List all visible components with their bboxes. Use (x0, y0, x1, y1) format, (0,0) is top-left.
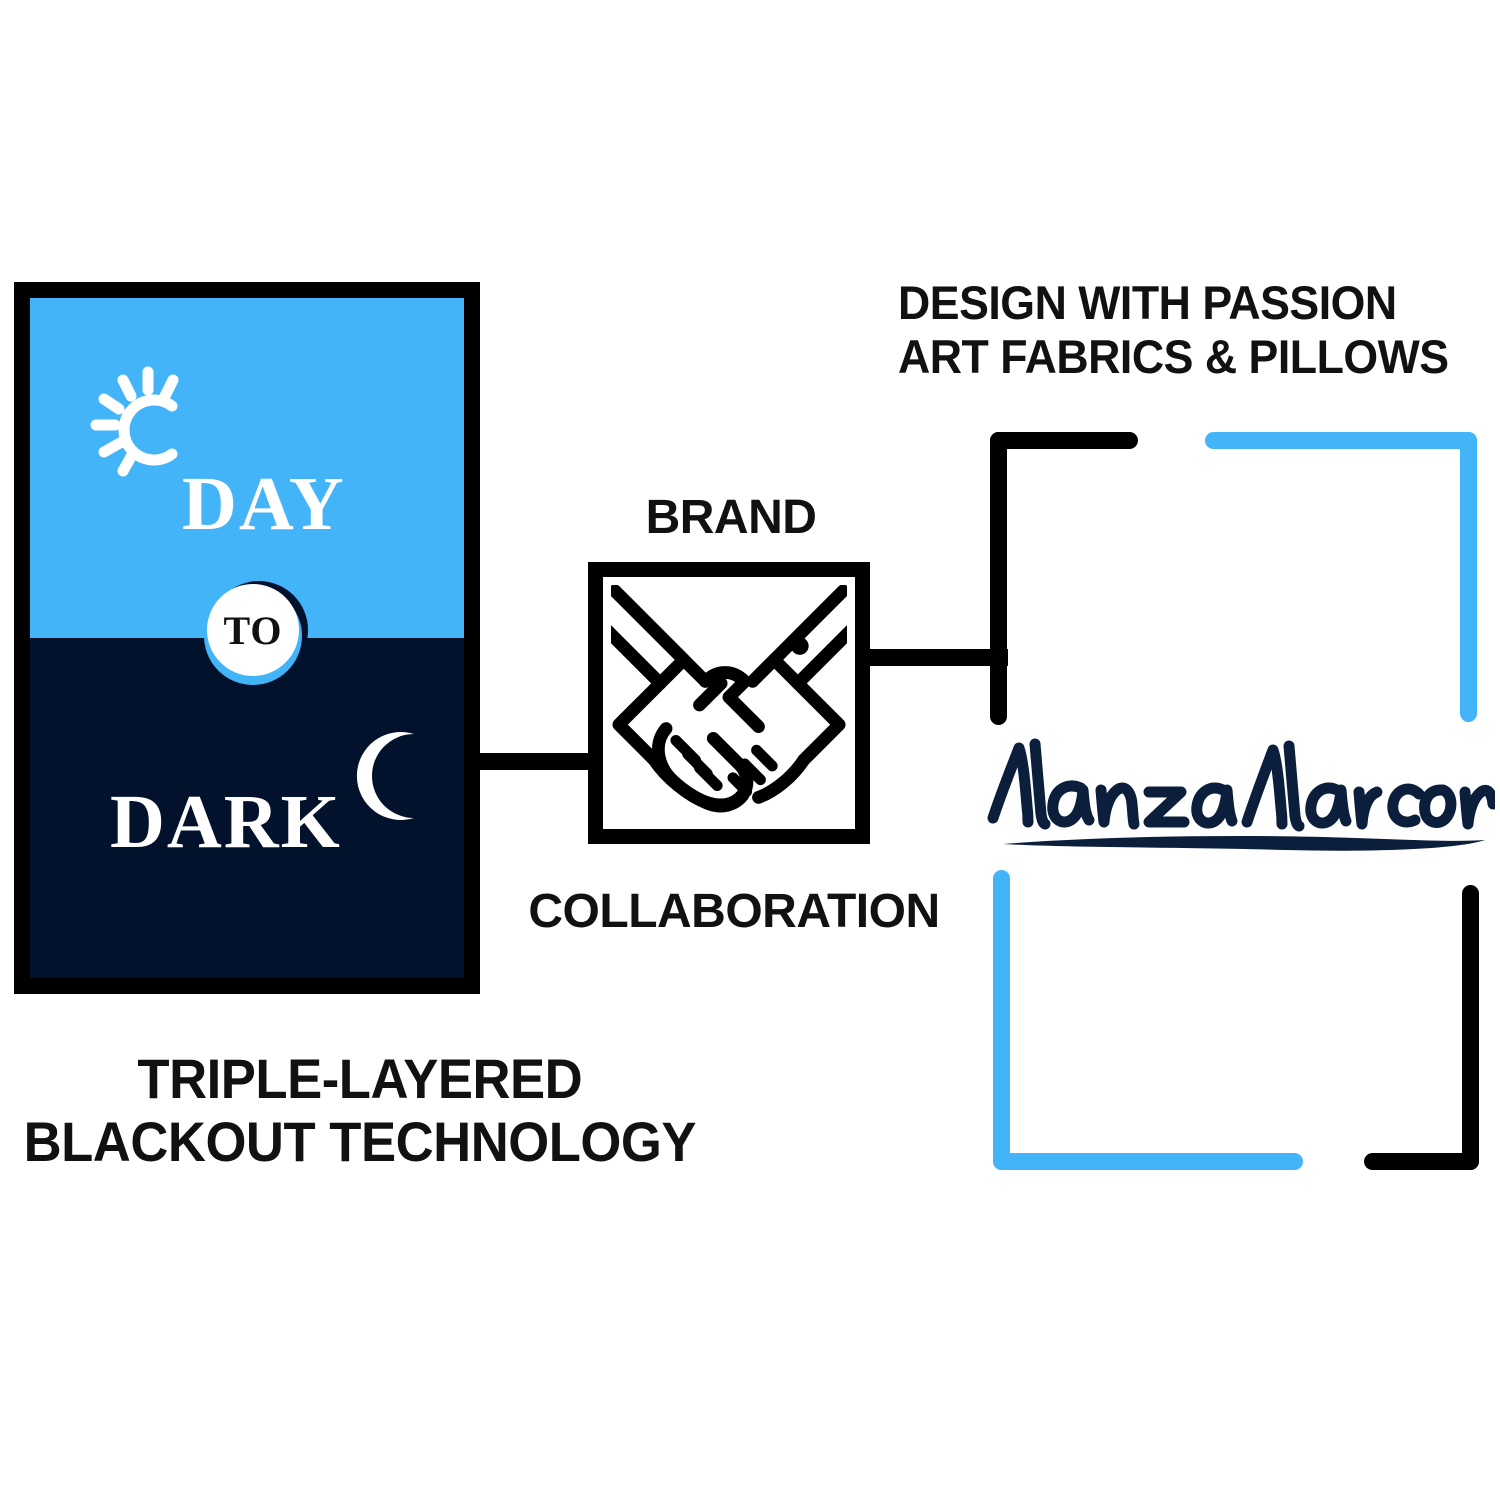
to-badge: TO (204, 581, 308, 685)
to-label: TO (223, 607, 282, 654)
bracket-bottom-right-vertical (1462, 885, 1479, 1170)
bracket-top-right-vertical (1460, 432, 1477, 722)
bracket-bottom-right-horizontal (1364, 1153, 1479, 1170)
handshake-icon (611, 585, 847, 821)
bracket-bottom-left-horizontal (993, 1153, 1303, 1170)
designer-signature (985, 726, 1495, 856)
bracket-bottom-left-vertical (993, 870, 1010, 1170)
infographic-canvas: DAY TO DARK TRIPLE-LAYERED BLACKOUT TECH… (0, 0, 1500, 1500)
moon-icon (342, 730, 434, 822)
brand-label: BRAND (586, 490, 876, 545)
to-circle: TO (207, 584, 299, 676)
connector-panel-to-collaboration (476, 753, 594, 770)
bracket-top-right (1205, 432, 1477, 722)
connector-collaboration-to-designer (868, 649, 1008, 666)
collaboration-label: COLLABORATION (512, 884, 956, 939)
panel-caption-line1: TRIPLE-LAYERED (12, 1048, 708, 1111)
bracket-bottom-left (993, 870, 1303, 1170)
designer-headline: DESIGN WITH PASSION ART FABRICS & PILLOW… (898, 276, 1468, 383)
designer-headline-line1: DESIGN WITH PASSION (898, 276, 1468, 330)
panel-caption: TRIPLE-LAYERED BLACKOUT TECHNOLOGY (12, 1048, 708, 1173)
connector-vertical-stem (990, 432, 1007, 725)
bracket-top-right-horizontal (1205, 432, 1477, 449)
connector-top-arm (990, 432, 1138, 449)
label-dark: DARK (110, 784, 342, 860)
product-panel: DAY TO DARK (14, 282, 480, 994)
product-panel-inner: DAY TO DARK (30, 298, 464, 978)
handshake-box (588, 562, 870, 844)
bracket-bottom-right (1364, 885, 1479, 1170)
panel-caption-line2: BLACKOUT TECHNOLOGY (12, 1111, 708, 1174)
label-day: DAY (182, 466, 346, 542)
designer-headline-line2: ART FABRICS & PILLOWS (898, 330, 1468, 384)
